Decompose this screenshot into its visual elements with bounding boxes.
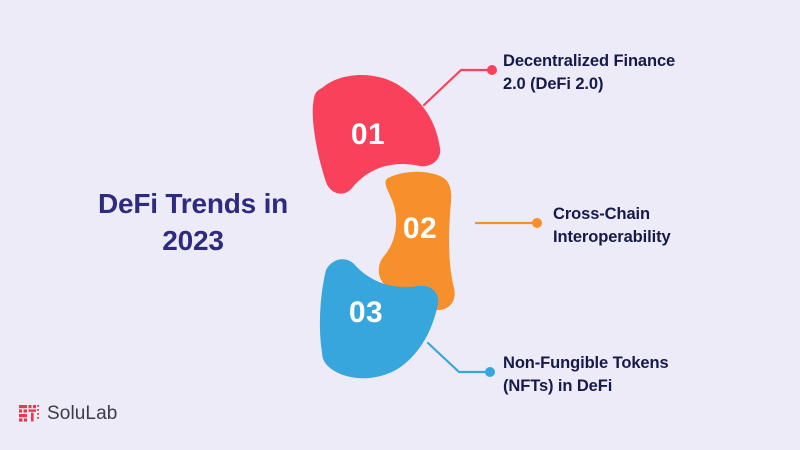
solulab-mark-icon [18, 403, 40, 425]
slide-canvas: DeFi Trends in 2023 01 02 03 [0, 0, 800, 450]
callout-label-01: Decentralized Finance 2.0 (DeFi 2.0) [503, 50, 753, 96]
callout-label-02: Cross-Chain Interoperability [553, 203, 783, 249]
donut-segment-03-number: 03 [349, 296, 383, 329]
callout-label-03: Non-Fungible Tokens (NFTs) in DeFi [503, 352, 753, 398]
brand-logo: SoluLab [18, 403, 117, 425]
connector-dot-02 [532, 218, 542, 228]
brand-logo-text: SoluLab [47, 403, 117, 425]
donut-segment-02-number: 02 [403, 212, 437, 245]
donut-segment-01-number: 01 [351, 118, 385, 151]
donut-chart-graphic: 01 02 03 [280, 60, 500, 390]
